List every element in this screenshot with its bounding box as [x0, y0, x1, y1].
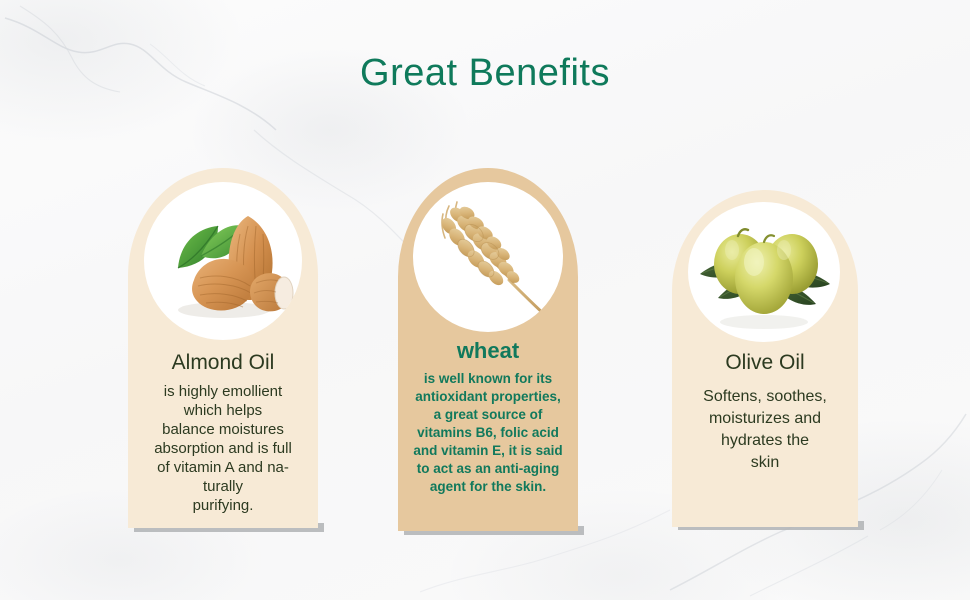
- olive-photo-circle: [688, 202, 840, 342]
- almond-photo-circle: [144, 182, 302, 340]
- wheat-stalk-icon: [413, 182, 563, 332]
- green-olives-with-leaves-icon: [688, 202, 840, 342]
- benefits-banner: Great Benefits: [0, 0, 970, 600]
- almonds-with-leaves-icon: [144, 182, 302, 340]
- benefit-card-olive-oil[interactable]: Olive Oil Softens, soothes,moisturizes a…: [672, 190, 858, 527]
- card-title: Olive Oil: [682, 350, 848, 376]
- wheat-photo-circle: [413, 182, 563, 332]
- card-text-block: wheat is well known for itsantioxidant p…: [398, 338, 578, 496]
- page-title: Great Benefits: [0, 52, 970, 95]
- card-description: is well known for itsantioxidant propert…: [408, 370, 568, 496]
- card-description: is highly emollientwhich helpsbalance mo…: [138, 382, 308, 515]
- benefit-card-almond-oil[interactable]: Almond Oil is highly emollientwhich help…: [128, 168, 318, 528]
- card-description: Softens, soothes,moisturizes andhydrates…: [682, 386, 848, 474]
- card-title: wheat: [408, 338, 568, 364]
- card-text-block: Olive Oil Softens, soothes,moisturizes a…: [672, 350, 858, 474]
- card-text-block: Almond Oil is highly emollientwhich help…: [128, 350, 318, 515]
- card-title: Almond Oil: [138, 350, 308, 376]
- benefit-card-wheat[interactable]: wheat is well known for itsantioxidant p…: [398, 168, 578, 531]
